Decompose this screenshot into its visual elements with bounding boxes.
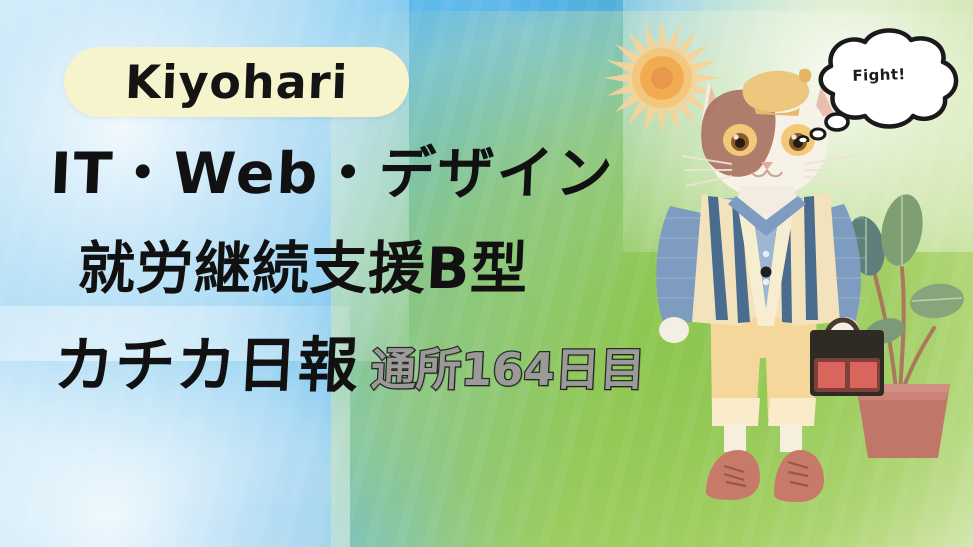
banner-canvas: Fight! Kiyohari IT・Web・デザイン 就労継続支援B型 カチカ… (0, 0, 973, 547)
brand-badge: Kiyohari (64, 47, 409, 117)
headline-line-2: 就労継続支援B型 (77, 241, 701, 298)
headline-line-3: カチカ日報 (52, 336, 360, 396)
headline-block: IT・Web・デザイン 就労継続支援B型 カチカ日報 通所164日目 (0, 146, 700, 396)
headline-line-1: IT・Web・デザイン (49, 146, 701, 203)
visit-day-counter: 通所164日目 (370, 347, 646, 392)
headline-line-3-row: カチカ日報 通所164日目 (54, 336, 700, 396)
brand-name: Kiyohari (124, 55, 349, 109)
thought-bubble-text: Fight! (833, 64, 926, 85)
